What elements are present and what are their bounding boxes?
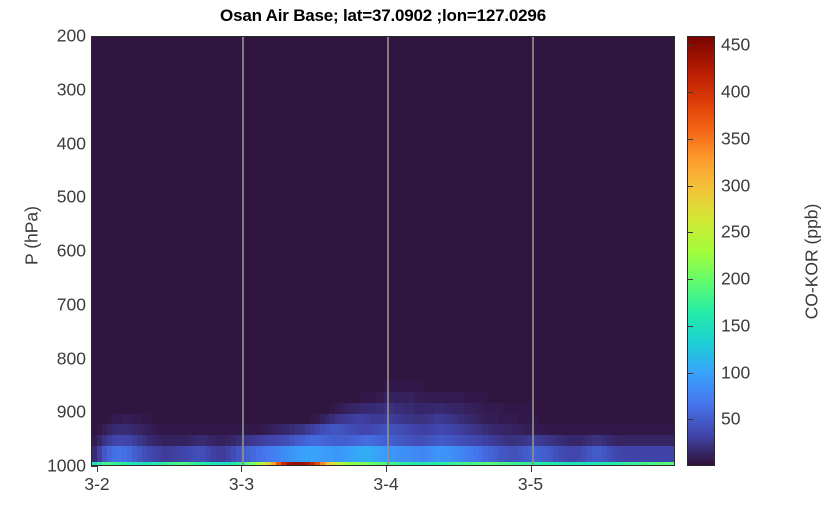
page-title: Osan Air Base; lat=37.0902 ;lon=127.0296 [91, 6, 675, 26]
colorbar-tick-100: 100 [721, 362, 750, 383]
y-tick-900: 900 [30, 402, 86, 423]
colorbar-tick-400: 400 [721, 82, 750, 103]
colorbar-title: CO-KOR (ppb) [802, 172, 823, 352]
x-tick-3-2: 3-2 [57, 474, 137, 495]
colorbar-tick-mark-50 [687, 419, 693, 420]
figure-container: Osan Air Base; lat=37.0902 ;lon=127.0296… [0, 0, 833, 521]
colorbar-tick-mark-300 [687, 186, 693, 187]
y-tick-600: 600 [30, 241, 86, 262]
colorbar-tick-450: 450 [721, 35, 750, 56]
gridline-3-4 [387, 37, 389, 466]
colorbar-tick-50: 50 [721, 409, 740, 430]
x-tick-3-5: 3-5 [491, 474, 571, 495]
colorbar-tick-mark-450 [687, 45, 693, 46]
y-tick-300: 300 [30, 79, 86, 100]
colorbar-tick-mark-250 [687, 232, 693, 233]
colorbar-tick-mark-150 [687, 326, 693, 327]
colorbar-tick-mark-400 [687, 92, 693, 93]
y-tick-200: 200 [30, 26, 86, 47]
y-tick-800: 800 [30, 348, 86, 369]
x-axis-tick-labels: 3-23-33-43-5 [0, 474, 833, 504]
y-axis-tick-labels: 2003004005006007008009001000 [24, 0, 86, 521]
colorbar-tick-mark-350 [687, 139, 693, 140]
x-tick-mark-3-2 [97, 466, 98, 472]
vertical-gridlines [92, 37, 675, 466]
y-tick-500: 500 [30, 187, 86, 208]
colorbar-gradient [687, 36, 715, 466]
y-tick-700: 700 [30, 294, 86, 315]
x-tick-mark-3-4 [386, 466, 387, 472]
colorbar-tick-350: 350 [721, 128, 750, 149]
colorbar-tick-mark-200 [687, 279, 693, 280]
colorbar[interactable] [687, 36, 715, 466]
x-tick-3-4: 3-4 [346, 474, 426, 495]
x-tick-3-3: 3-3 [201, 474, 281, 495]
colorbar-tick-mark-100 [687, 373, 693, 374]
colorbar-tick-250: 250 [721, 222, 750, 243]
y-tick-400: 400 [30, 133, 86, 154]
x-tick-mark-3-5 [531, 466, 532, 472]
colorbar-tick-200: 200 [721, 269, 750, 290]
heatmap-plot-area[interactable] [91, 36, 675, 466]
gridline-3-3 [242, 37, 244, 466]
x-tick-mark-3-3 [241, 466, 242, 472]
colorbar-tick-300: 300 [721, 175, 750, 196]
gridline-3-5 [532, 37, 534, 466]
colorbar-tick-150: 150 [721, 315, 750, 336]
